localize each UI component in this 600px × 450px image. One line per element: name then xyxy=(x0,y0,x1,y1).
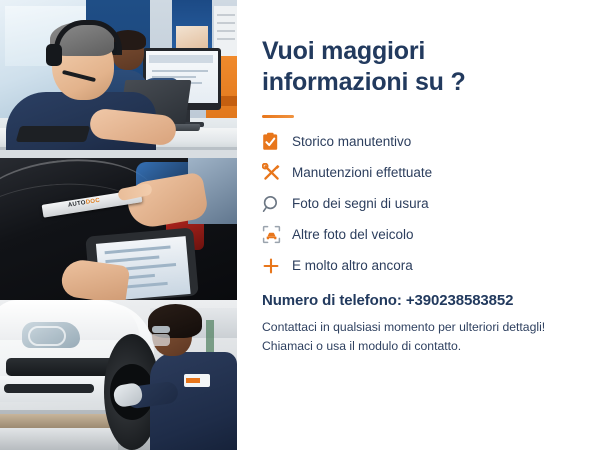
tools-cross-icon xyxy=(262,163,292,182)
headline-line-2: informazioni su ? xyxy=(262,67,477,98)
mechanic-uniform-badge xyxy=(184,374,210,387)
car-headlight xyxy=(22,322,80,348)
page-title: Vuoi maggiori informazioni su ? xyxy=(262,36,477,97)
list-item-label: Storico manutentivo xyxy=(292,134,411,149)
car-scan-icon xyxy=(262,225,292,244)
list-item: Foto dei segni di usura xyxy=(262,190,592,217)
clipboard-check-icon xyxy=(262,132,292,151)
list-item: E molto altro ancora xyxy=(262,252,592,279)
face-mask xyxy=(150,334,170,346)
car-grille xyxy=(6,358,114,376)
magnifier-icon xyxy=(262,195,292,213)
lift-platform xyxy=(0,414,120,428)
headline-line-1: Vuoi maggiori xyxy=(262,36,477,67)
feature-list: Storico manutentivo Manutenzioni effettu… xyxy=(262,128,592,283)
photo-call-center-agent-with-headset xyxy=(0,0,237,150)
photo-inspector-measuring-car-body-with-ruler-and-tablet: AUTODOC xyxy=(0,150,237,300)
list-item: Storico manutentivo xyxy=(262,128,592,155)
agent-headset-earcup xyxy=(46,44,62,66)
contact-subtext-line-1: Contattaci in qualsiasi momento per ulte… xyxy=(262,318,587,337)
contact-subtext-line-2: Chiamaci o usa il modulo di contatto. xyxy=(262,337,587,356)
content-panel: Vuoi maggiori informazioni su ? Saremo f… xyxy=(237,0,600,450)
list-item: Manutenzioni effettuate xyxy=(262,159,592,186)
list-item-label: Altre foto del veicolo xyxy=(292,227,414,242)
phone-number-label[interactable]: Numero di telefono: +390238583852 xyxy=(262,292,592,309)
safety-glasses xyxy=(152,326,170,333)
photo-top-edge xyxy=(0,150,237,158)
list-item-label: E molto altro ancora xyxy=(292,258,413,273)
lift-base xyxy=(0,428,120,450)
contact-subtext: Contattaci in qualsiasi momento per ulte… xyxy=(262,318,587,356)
plus-icon xyxy=(262,257,292,275)
tablet-on-desk xyxy=(16,126,91,142)
title-underline-divider xyxy=(262,115,294,118)
photo-strip: AUTODOC xyxy=(0,0,237,450)
photo-mechanic-inspecting-white-car-wheel-on-lift xyxy=(0,300,237,450)
list-item-label: Foto dei segni di usura xyxy=(292,196,429,211)
list-item: Altre foto del veicolo xyxy=(262,221,592,248)
promo-card: AUTODOC xyxy=(0,0,600,450)
list-item-label: Manutenzioni effettuate xyxy=(292,165,432,180)
